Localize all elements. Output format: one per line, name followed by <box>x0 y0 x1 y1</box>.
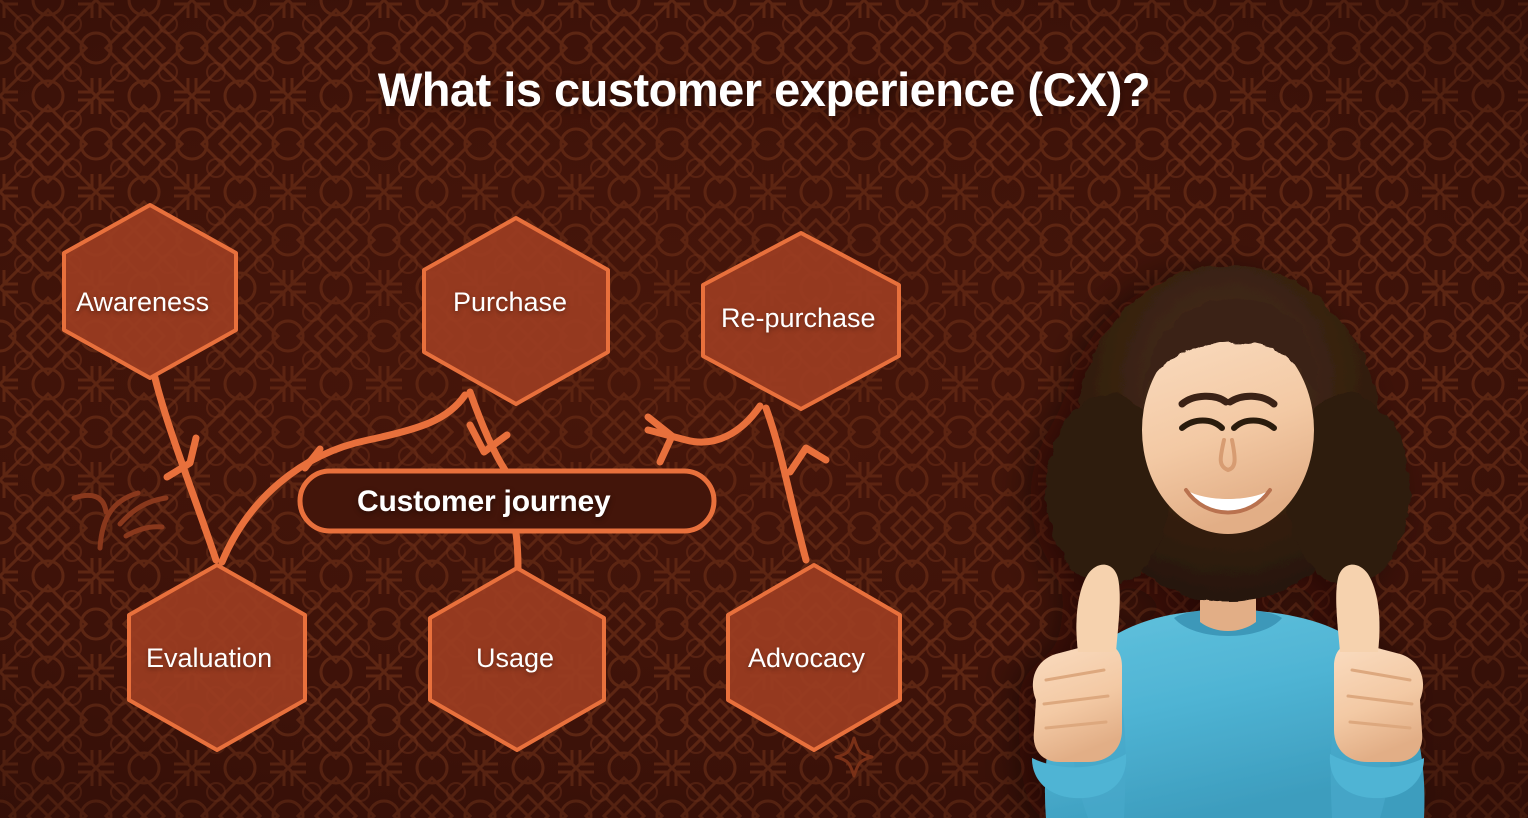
connector-repurchase-journey <box>648 406 760 462</box>
thumbs-up-left <box>1033 565 1122 762</box>
hexagon-evaluation[interactable] <box>129 565 305 750</box>
photo-woman-thumbs-up <box>928 218 1528 818</box>
connector-advocacy-repurchase <box>766 408 826 560</box>
infographic-canvas: What is customer experience (CX)? <box>0 0 1528 818</box>
hexagon-purchase[interactable] <box>424 218 608 404</box>
center-pill[interactable] <box>300 471 714 531</box>
plant-doodle-icon <box>74 493 166 548</box>
hexagon-awareness[interactable] <box>64 205 236 378</box>
connector-awareness-evaluation <box>155 378 216 560</box>
page-title: What is customer experience (CX)? <box>0 62 1528 117</box>
thumbs-up-right <box>1334 565 1423 762</box>
sparkle-icon <box>836 738 872 776</box>
hexagon-usage[interactable] <box>430 568 604 750</box>
hexagon-advocacy[interactable] <box>728 565 900 750</box>
hexagon-re-purchase[interactable] <box>703 233 899 409</box>
